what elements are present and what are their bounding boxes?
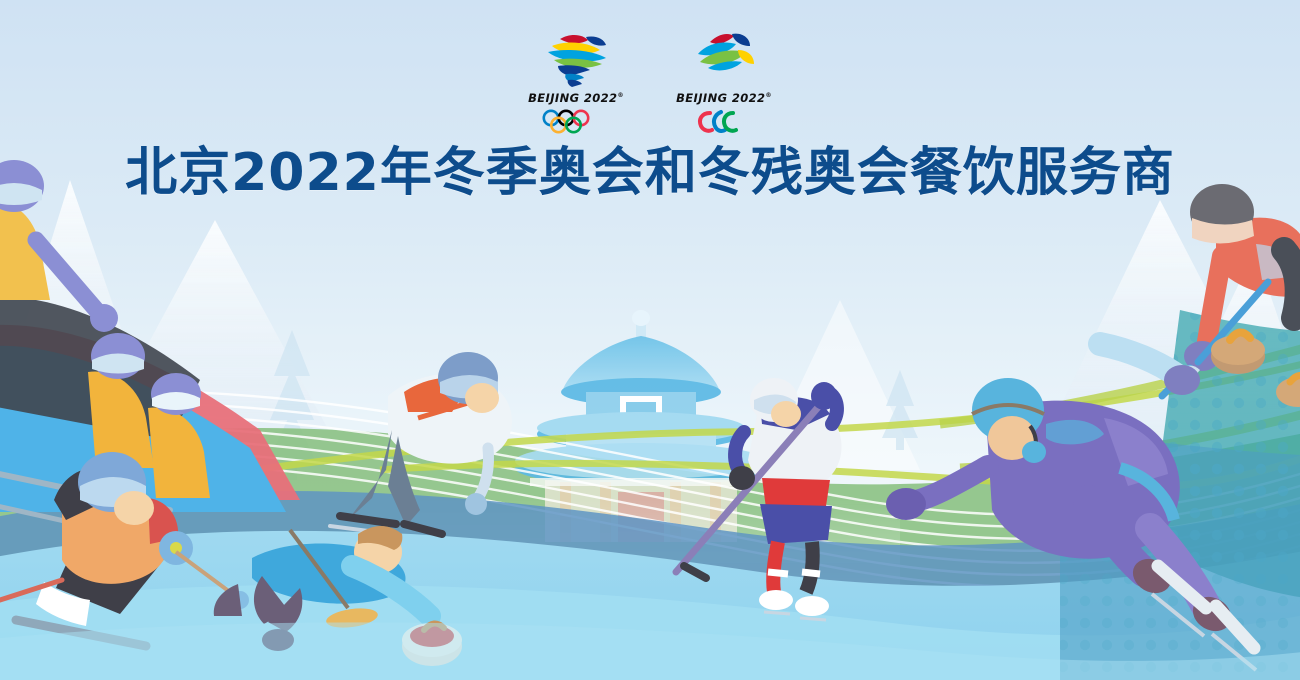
olympic-banner: BEIJING 2022® BEIJING 2022® bbox=[0, 0, 1300, 680]
title-text: 北京2022年冬季奥会和冬残奥会餐饮服务商 bbox=[125, 142, 1175, 204]
paralympic-emblem: BEIJING 2022® bbox=[674, 30, 774, 135]
olympic-emblem-mark bbox=[526, 30, 626, 88]
olympic-emblem: BEIJING 2022® bbox=[526, 30, 626, 135]
paralympic-wordmark: BEIJING 2022® bbox=[676, 91, 772, 105]
paralympic-agitos-icon bbox=[688, 109, 760, 135]
page-title: 北京2022年冬季奥会和冬残奥会餐饮服务商 bbox=[0, 142, 1300, 204]
paralympic-emblem-mark bbox=[674, 30, 774, 88]
emblem-row: BEIJING 2022® BEIJING 2022® bbox=[0, 30, 1300, 135]
olympic-rings-icon bbox=[540, 109, 612, 135]
olympic-wordmark: BEIJING 2022® bbox=[528, 91, 624, 105]
